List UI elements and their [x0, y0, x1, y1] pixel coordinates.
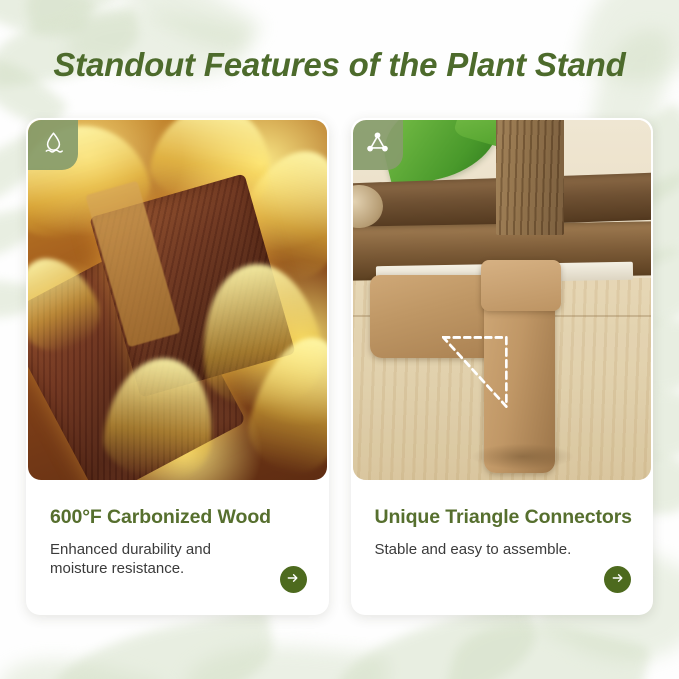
dashed-triangle-overlay-icon: [442, 336, 508, 408]
leaf-decoration-icon: [182, 635, 389, 679]
connector-collar: [481, 260, 562, 310]
badge-triangle-structure: [353, 120, 403, 170]
arrow-right-icon: [286, 571, 300, 588]
feature-card-triangle-connectors[interactable]: Unique Triangle Connectors Stable and ea…: [351, 118, 654, 615]
leaf-decoration-icon: [40, 610, 281, 679]
arrow-right-icon: [611, 571, 625, 588]
water-drop-icon: [40, 129, 67, 161]
feature-card-list: 600°F Carbonized Wood Enhanced durabilit…: [26, 118, 653, 615]
feature-title: Unique Triangle Connectors: [375, 506, 630, 529]
feature-description: Enhanced durability and moisture resista…: [50, 540, 260, 578]
leaf-decoration-icon: [17, 0, 148, 31]
page-title: Standout Features of the Plant Stand: [0, 46, 679, 84]
badge-water-resistance: [28, 120, 78, 170]
learn-more-arrow-button[interactable]: [604, 566, 631, 593]
feature-photo-burning-wood: [28, 120, 327, 480]
learn-more-arrow-button[interactable]: [280, 566, 307, 593]
leaf-decoration-icon: [0, 640, 167, 679]
feature-photo-triangle-connector: [353, 120, 652, 480]
triangle-connector-part: [353, 120, 652, 480]
triangle-connector-icon: [364, 129, 391, 161]
connector-floor-shadow: [472, 444, 573, 469]
feature-title: 600°F Carbonized Wood: [50, 506, 305, 529]
feature-card-body: 600°F Carbonized Wood Enhanced durabilit…: [26, 480, 329, 615]
feature-card-carbonized-wood[interactable]: 600°F Carbonized Wood Enhanced durabilit…: [26, 118, 329, 615]
feature-card-body: Unique Triangle Connectors Stable and ea…: [351, 480, 654, 615]
feature-description: Stable and easy to assemble.: [375, 540, 585, 559]
infographic-canvas: Standout Features of the Plant Stand: [0, 0, 679, 679]
